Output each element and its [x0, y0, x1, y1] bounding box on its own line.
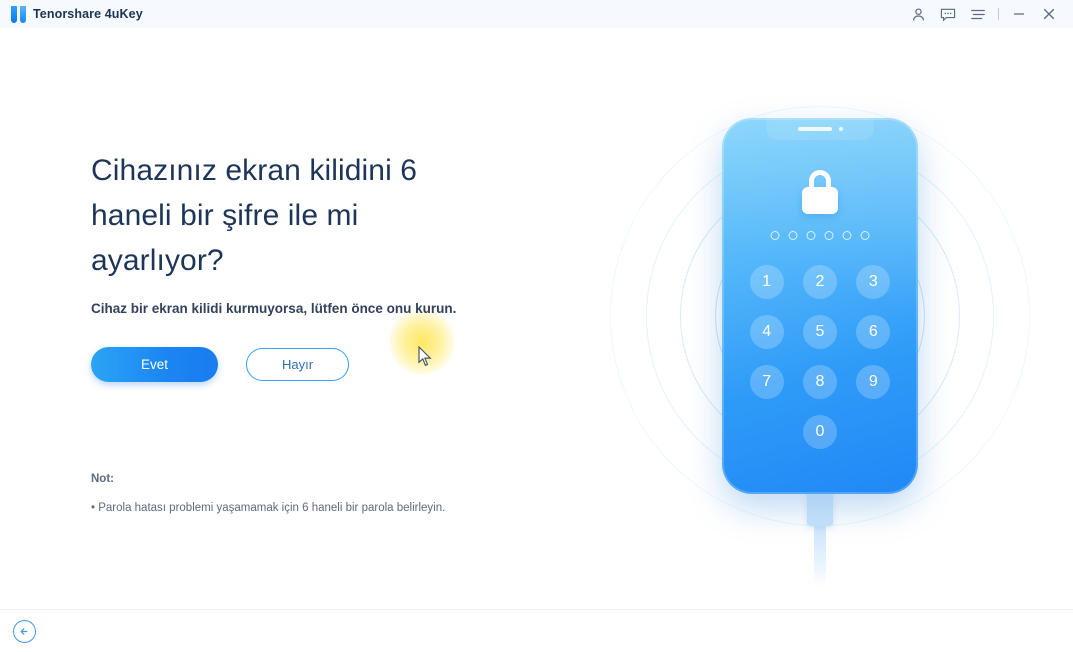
- phone-keypad: 1 2 3 4 5 6 7 8 9 0: [740, 265, 900, 449]
- menu-icon[interactable]: [963, 0, 993, 28]
- keypad-key: 2: [803, 265, 837, 299]
- note-title: Not:: [91, 473, 571, 485]
- speaker-bar-icon: [798, 127, 832, 131]
- passcode-dot: [843, 231, 852, 240]
- passcode-dot: [861, 231, 870, 240]
- note-item: • Parola hatası problemi yaşamamak için …: [91, 500, 571, 516]
- phone-notch: [766, 118, 874, 140]
- keypad-key: 1: [750, 265, 784, 299]
- controls-divider: [998, 8, 999, 20]
- passcode-dot: [789, 231, 798, 240]
- padlock-icon: [801, 170, 839, 214]
- passcode-dots: [771, 231, 870, 240]
- note-block: Not: • Parola hatası problemi yaşamamak …: [91, 473, 571, 516]
- minimize-icon[interactable]: [1004, 0, 1034, 28]
- content-column: Cihazınız ekran kilidini 6 haneli bir şi…: [91, 148, 561, 382]
- keypad-key: 8: [803, 365, 837, 399]
- main-panel: 1 2 3 4 5 6 7 8 9 0 Cihazınız ekran kili…: [0, 28, 1073, 609]
- app-brand: Tenorshare 4uKey: [11, 6, 143, 23]
- close-icon[interactable]: [1034, 0, 1064, 28]
- keypad-key: 3: [856, 265, 890, 299]
- answer-buttons: Evet Hayır: [91, 347, 561, 382]
- footer-bar: [0, 609, 1073, 652]
- keypad-key: 0: [803, 415, 837, 449]
- camera-dot-icon: [839, 127, 843, 131]
- passcode-dot: [771, 231, 780, 240]
- page-title: Cihazınız ekran kilidini 6 haneli bir şi…: [91, 148, 491, 283]
- app-title: Tenorshare 4uKey: [33, 7, 143, 21]
- keypad-key: 7: [750, 365, 784, 399]
- page-subtitle: Cihaz bir ekran kilidi kurmuyorsa, lütfe…: [91, 301, 561, 316]
- passcode-dot: [807, 231, 816, 240]
- 4ukey-logo-icon: [11, 6, 26, 23]
- keypad-key: 9: [856, 365, 890, 399]
- phone-illustration: 1 2 3 4 5 6 7 8 9 0: [600, 48, 1040, 593]
- no-button[interactable]: Hayır: [246, 348, 349, 381]
- phone-device: 1 2 3 4 5 6 7 8 9 0: [722, 118, 918, 494]
- keypad-key: 4: [750, 315, 784, 349]
- window-controls: [903, 0, 1064, 28]
- title-bar: Tenorshare 4uKey: [0, 0, 1073, 28]
- cable-plug-icon: [807, 490, 833, 526]
- feedback-icon[interactable]: [933, 0, 963, 28]
- passcode-dot: [825, 231, 834, 240]
- app-window: Tenorshare 4uKey: [0, 0, 1073, 652]
- back-arrow-icon[interactable]: [13, 620, 36, 643]
- keypad-key: 5: [803, 315, 837, 349]
- yes-button[interactable]: Evet: [91, 347, 218, 382]
- keypad-key: 6: [856, 315, 890, 349]
- account-icon[interactable]: [903, 0, 933, 28]
